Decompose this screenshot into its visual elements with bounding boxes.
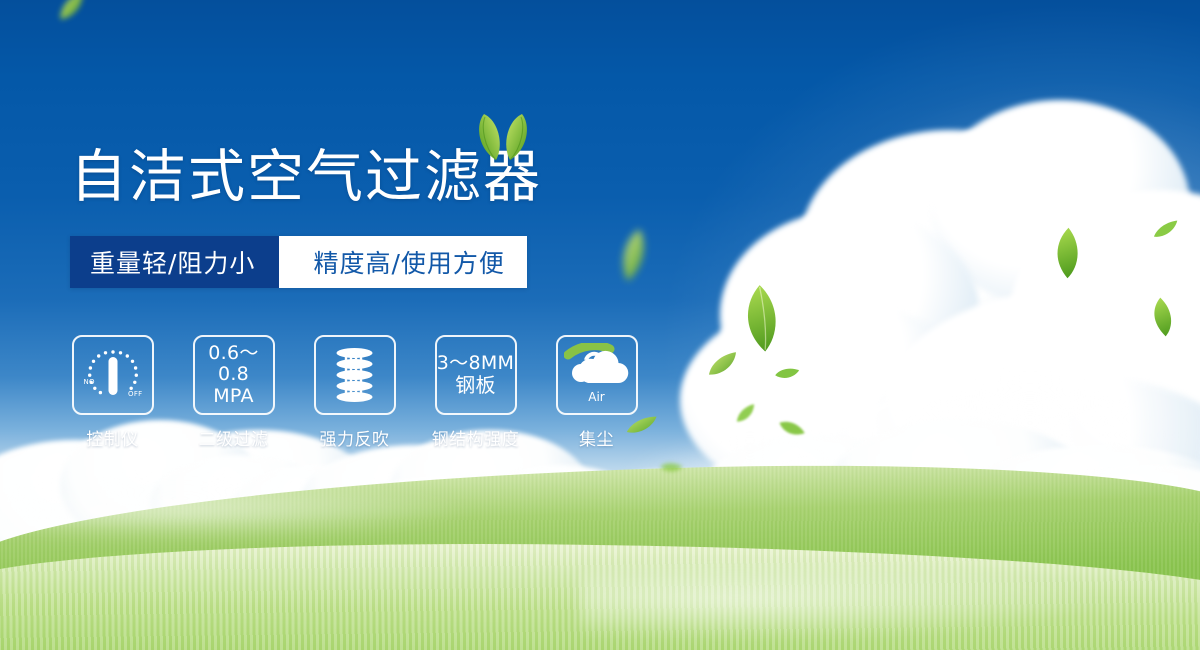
feature-icon-box: 0.6～0.8 MPA xyxy=(193,335,275,415)
subtitle-bar: 重量轻/阻力小 精度高/使用方便 xyxy=(70,236,527,288)
steel-thickness-text: 3～8MM xyxy=(437,353,514,374)
subtitle-left: 重量轻/阻力小 xyxy=(70,236,279,288)
gauge-no-label: NO xyxy=(84,379,95,387)
feature-label: 集尘 xyxy=(579,425,614,450)
grass-highlight xyxy=(0,480,480,540)
leaf-icon xyxy=(774,363,800,384)
feature-list: NO OFF 控制仪 0.6～0.8 MPA 二级过滤 xyxy=(70,335,639,450)
pressure-range-text: 0.6～0.8 xyxy=(195,343,273,386)
feature-item-strong-backblow[interactable]: 强力反吹 xyxy=(312,335,397,450)
feature-icon-box xyxy=(314,335,396,415)
subtitle-right: 精度高/使用方便 xyxy=(307,236,526,288)
feature-item-two-stage-filter[interactable]: 0.6～0.8 MPA 二级过滤 xyxy=(191,335,276,450)
feature-icon-box: Air xyxy=(556,335,638,415)
product-banner: 自洁式空气过滤器 重量轻/阻力小 精度高/使用方便 xyxy=(0,0,1200,650)
filter-cartridge-icon xyxy=(327,344,383,406)
grass-path-highlight xyxy=(580,560,1100,640)
feature-item-steel-strength[interactable]: 3～8MM 钢板 钢结构强度 xyxy=(433,335,518,450)
gauge-off-label: OFF xyxy=(128,391,142,399)
leaf-sprout-icon xyxy=(472,113,534,161)
air-label: Air xyxy=(558,391,636,404)
feature-icon-box: NO OFF xyxy=(72,335,154,415)
feature-label: 二级过滤 xyxy=(199,425,269,450)
pressure-unit-text: MPA xyxy=(213,386,254,407)
feature-label: 控制仪 xyxy=(86,425,139,450)
feature-item-controller[interactable]: NO OFF 控制仪 xyxy=(70,335,155,450)
feature-label: 钢结构强度 xyxy=(432,425,520,450)
subtitle-slash-divider xyxy=(279,236,307,288)
feature-label: 强力反吹 xyxy=(320,425,390,450)
feature-icon-box: 3～8MM 钢板 xyxy=(435,335,517,415)
steel-plate-text: 钢板 xyxy=(455,374,496,396)
